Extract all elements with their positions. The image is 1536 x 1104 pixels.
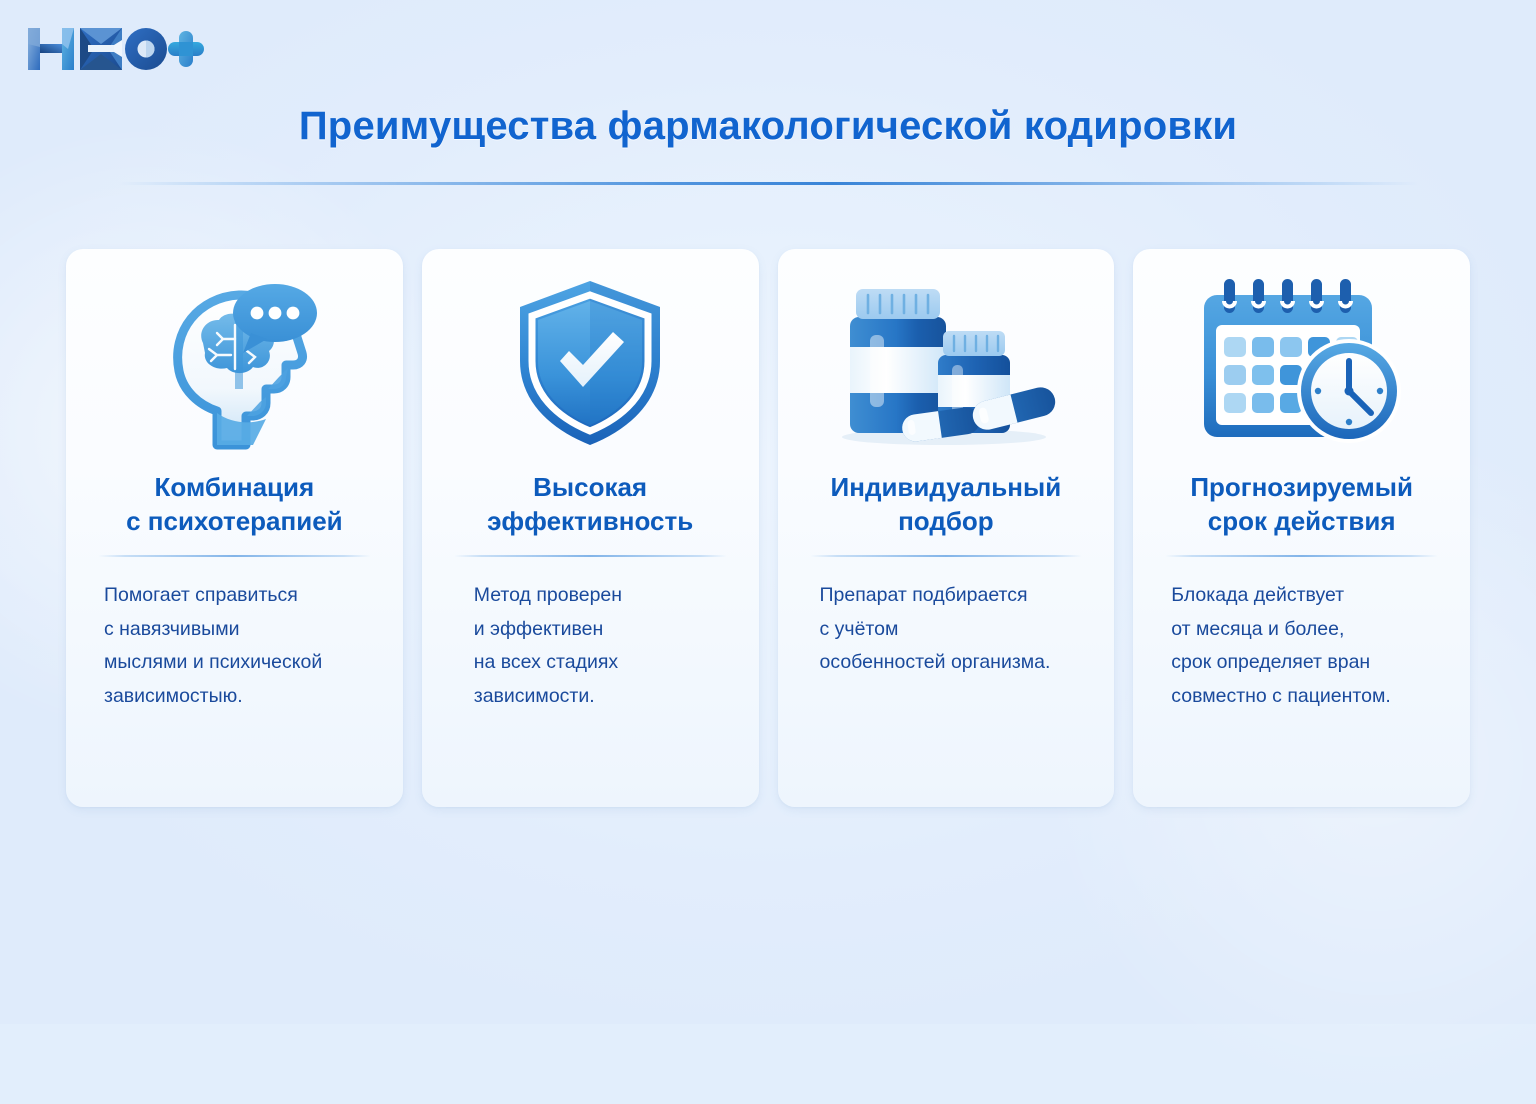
card-heading-line-1: Комбинация — [126, 471, 343, 505]
card-heading-line-2: срок действия — [1190, 505, 1413, 539]
card-body-text: Метод проверен и эффективен на всех стад… — [422, 557, 759, 713]
page-title: Преимущества фармакологической кодировки — [0, 104, 1536, 149]
benefit-card-predictable-duration[interactable]: Прогнозируемый срок действия Блокада дей… — [1133, 249, 1470, 807]
card-heading: Комбинация с психотерапией — [114, 471, 355, 543]
card-body-text: Блокада действует от месяца и более, сро… — [1133, 557, 1470, 713]
benefit-card-combination-psychotherapy[interactable]: Комбинация с психотерапией Помогает спра… — [66, 249, 403, 807]
benefit-card-high-effectiveness[interactable]: Высокая эффективность Метод проверен и э… — [422, 249, 759, 807]
card-icon-slot — [422, 249, 759, 471]
card-body-text: Помогает справиться с навязчивыми мыслям… — [66, 557, 403, 713]
neo-plus-logo-icon — [18, 18, 208, 80]
card-heading-line-1: Индивидуальный — [831, 471, 1062, 505]
pill-bottles-capsules-icon — [832, 277, 1060, 449]
card-heading-line-2: с психотерапией — [126, 505, 343, 539]
card-heading: Индивидуальный подбор — [819, 471, 1074, 543]
head-brain-speech-bubble-icon — [147, 273, 322, 453]
title-divider — [118, 182, 1418, 185]
card-heading: Высокая эффективность — [475, 471, 705, 543]
calendar-clock-icon — [1194, 275, 1410, 451]
card-heading-line-2: эффективность — [487, 505, 693, 539]
card-icon-slot — [1133, 249, 1470, 471]
card-heading: Прогнозируемый срок действия — [1178, 471, 1425, 543]
benefit-cards-grid: Комбинация с психотерапией Помогает спра… — [66, 249, 1470, 807]
card-heading-line-2: подбор — [831, 505, 1062, 539]
card-heading-line-1: Высокая — [487, 471, 693, 505]
benefit-card-individual-selection[interactable]: Индивидуальный подбор Препарат подбирает… — [778, 249, 1115, 807]
shield-check-icon — [512, 277, 668, 449]
card-heading-line-1: Прогнозируемый — [1190, 471, 1413, 505]
brand-logo[interactable] — [18, 18, 208, 80]
card-icon-slot — [778, 249, 1115, 471]
card-body-text: Препарат подбирается с учётом особенност… — [778, 557, 1115, 680]
card-icon-slot — [66, 249, 403, 471]
